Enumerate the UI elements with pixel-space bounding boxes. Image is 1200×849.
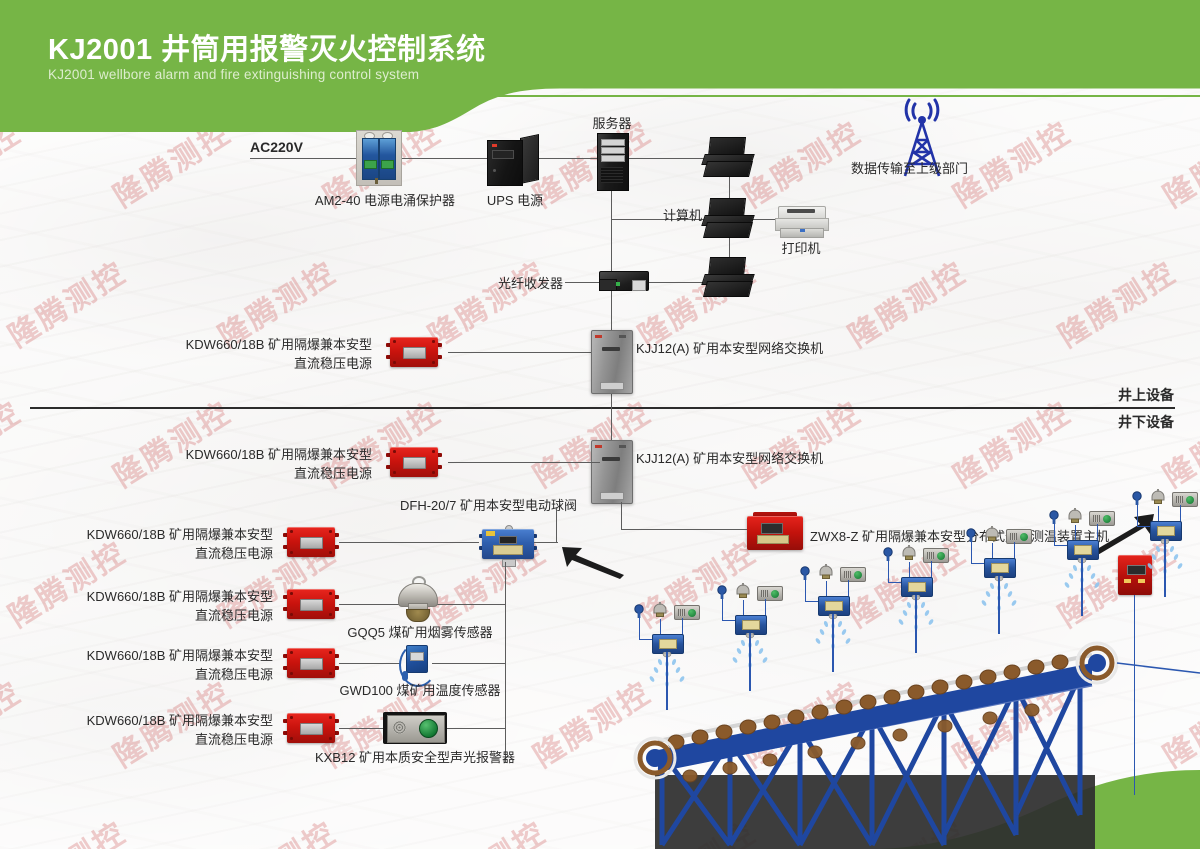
sprinkler-station [879,543,953,661]
label-server: 服务器 [562,114,662,133]
sprinkler-riser-pipe [749,633,751,691]
device-fiber-transceiver [599,271,647,293]
device-switch-underground [591,440,631,502]
wire-power4-to-temp [339,663,401,664]
label-below-ground: 井下设备 [1118,413,1174,432]
device-computer-1 [703,137,755,177]
sprinkler-link-3 [992,543,993,559]
sprinkler-box-label [1074,545,1092,555]
label-power-underground-4: KDW660/18B 矿用隔爆兼本安型 直流稳压电源 [55,646,273,684]
device-power-underground-1 [386,447,442,477]
sprinkler-box-label [659,639,677,649]
label-power-underground-5: KDW660/18B 矿用隔爆兼本安型 直流稳压电源 [55,711,273,749]
mini-smoke-sensor-icon [652,602,668,619]
label-smoke-sensor: GQQ5 煤矿用烟雾传感器 [340,623,500,642]
sprinkler-link-3 [1158,506,1159,522]
label-power-underground-2: KDW660/18B 矿用隔爆兼本安型 直流稳压电源 [55,525,273,563]
device-printer [775,206,827,240]
sprinkler-link-3 [660,619,661,635]
wire-ups-to-server [537,158,597,159]
wire-power1-to-switch [448,462,600,463]
wire-alarm-to-bus [447,728,505,729]
wire-ac-to-spd [250,158,360,159]
mini-alarm-icon [1089,511,1115,526]
label-above-ground: 井上设备 [1118,386,1174,405]
label-switch-underground: KJJ12(A) 矿用本安型网络交换机 [636,449,823,468]
sprinkler-station [796,562,870,680]
sprinkler-station [713,581,787,699]
device-computer-3 [703,257,755,297]
mini-smoke-sensor-icon [1067,508,1083,525]
mini-alarm-icon [757,586,783,601]
label-printer: 打印机 [761,239,841,258]
surface-underground-divider [30,407,1175,409]
sprinkler-box-label [908,582,926,592]
sprinkler-riser-pipe [1164,539,1166,597]
mini-alarm-icon [923,548,949,563]
device-power-underground-4 [283,648,339,678]
mini-temp-sensor-icon [715,585,729,599]
wire-valve-label-drop [556,507,557,543]
wire-switch-to-zwx [621,529,747,530]
sprinkler-link-1 [971,542,972,564]
label-computer: 计算机 [663,206,702,225]
wire-valve-connect [534,542,558,543]
sprinkler-riser-pipe [998,576,1000,634]
sprinkler-link-1 [1054,524,1055,546]
mini-alarm-icon [674,605,700,620]
device-switch-surface [591,330,631,392]
wire-server-to-pc1 [627,158,707,159]
sprinkler-station [1128,487,1200,605]
label-ball-valve: DFH-20/7 矿用本安型电动球阀 [400,496,560,515]
wire-server-trunk [611,170,612,330]
mini-alarm-icon [840,567,866,582]
mini-temp-sensor-icon [881,547,895,561]
label-ups: UPS 电源 [455,191,575,210]
device-server [597,133,627,189]
device-power-surface [386,337,442,367]
label-switch-surface: KJJ12(A) 矿用本安型网络交换机 [636,339,823,358]
wire-surface-power-to-switch [448,352,600,353]
sprinkler-link-3 [1075,525,1076,541]
wire-temp-to-bus [432,663,505,664]
sprinkler-box-label [991,563,1009,573]
mini-temp-sensor-icon [964,528,978,542]
sprinkler-link-3 [826,581,827,597]
label-surge-protector: AM2-40 电源电涌保护器 [300,191,470,210]
mini-smoke-sensor-icon [735,583,751,600]
sprinkler-riser-pipe [915,595,917,653]
device-smoke-sensor [393,576,441,622]
device-audible-visual-alarm [383,712,447,744]
header-accent-line [0,95,1200,97]
mini-alarm-icon [1172,492,1198,507]
sprinkler-link-3 [909,562,910,578]
device-temperature-sensor [396,641,436,685]
mini-temp-sensor-icon [798,566,812,580]
wire-fiber-label-line [565,282,599,283]
mini-smoke-sensor-icon [818,564,834,581]
mini-temp-sensor-icon [1130,491,1144,505]
device-computer-2 [703,198,755,238]
device-power-underground-2 [283,527,339,557]
wire-smoke-to-bus [432,604,505,605]
diagram-page: 隆腾测控隆腾测控隆腾测控隆腾测控隆腾测控隆腾测控隆腾测控隆腾测控隆腾测控隆腾测控… [0,0,1200,849]
device-ball-valve [477,525,539,565]
wire-power2-to-valve [339,542,479,543]
sprinkler-box-label [1157,526,1175,536]
mini-smoke-sensor-icon [1150,489,1166,506]
page-title: KJ2001 井筒用报警灭火控制系统 [48,26,486,68]
label-power-surface: KDW660/18B 矿用隔爆兼本安型 直流稳压电源 [150,335,372,373]
mini-smoke-sensor-icon [901,545,917,562]
sprinkler-station [1045,506,1119,624]
sprinkler-riser-pipe [832,614,834,672]
label-fiber-transceiver: 光纤收发器 [455,274,563,293]
sprinkler-link-3 [743,600,744,616]
mini-temp-sensor-icon [632,604,646,618]
sprinkler-link-1 [722,599,723,621]
wire-switch-down-zwx [621,502,622,530]
device-surge-protector [356,130,400,184]
device-power-underground-3 [283,589,339,619]
mini-temp-sensor-icon [1047,510,1061,524]
sprinkler-riser-pipe [666,652,668,710]
mini-smoke-sensor-icon [984,526,1000,543]
sprinkler-station [962,524,1036,642]
sprinkler-link-1 [805,580,806,602]
label-uplink: 数据传输至上级部门 [851,159,968,178]
sprinkler-riser-pipe [1081,558,1083,616]
mini-alarm-icon [1006,529,1032,544]
device-power-underground-5 [283,713,339,743]
sprinkler-link-1 [888,561,889,583]
wire-valve-bus-vertical [505,562,506,762]
sprinkler-link-1 [639,618,640,640]
header-banner: KJ2001 井筒用报警灭火控制系统 KJ2001 wellbore alarm… [0,0,1200,132]
page-subtitle: KJ2001 wellbore alarm and fire extinguis… [48,67,419,82]
wire-power5-to-alarm [339,728,383,729]
sprinkler-station [630,600,704,718]
device-ups [487,136,537,184]
wire-spd-to-ups [398,158,488,159]
label-temperature-sensor: GWD100 煤矿用温度传感器 [335,681,505,700]
sprinkler-box-label [742,620,760,630]
label-audible-visual-alarm: KXB12 矿用本质安全型声光报警器 [300,748,530,767]
sprinkler-link-1 [1137,505,1138,527]
sprinkler-box-label [825,601,843,611]
label-power-underground-1: KDW660/18B 矿用隔爆兼本安型 直流稳压电源 [150,445,372,483]
label-power-underground-3: KDW660/18B 矿用隔爆兼本安型 直流稳压电源 [55,587,273,625]
label-ac220v: AC220V [250,138,303,157]
